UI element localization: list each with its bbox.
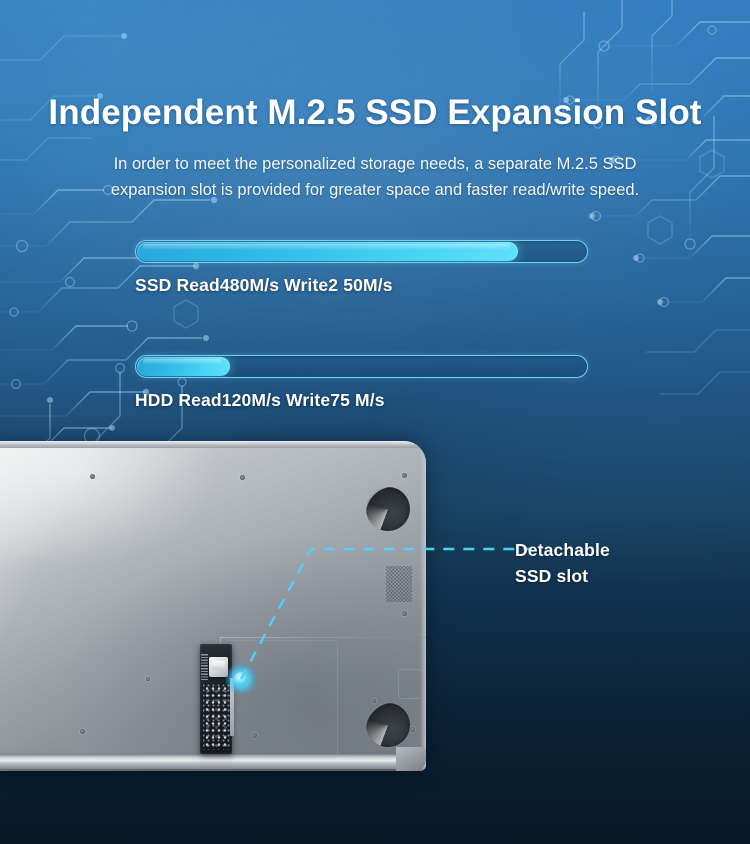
ssd-module: [200, 644, 232, 754]
ssd-connector-pins: [201, 654, 208, 680]
vent-grille: [386, 566, 412, 602]
ssd-speed-bar-group: SSD Read480M/s Write2 50M/s: [135, 240, 590, 296]
ssd-slot-glow-marker: [225, 663, 257, 695]
ssd-speed-bar-track: [135, 240, 588, 263]
header: Independent M.2.5 SSD Expansion Slot In …: [0, 0, 750, 203]
rubber-foot: [366, 487, 410, 531]
speed-comparison-chart: SSD Read480M/s Write2 50M/s HDD Read120M…: [135, 240, 590, 411]
laptop-bottom-right-cap: [396, 747, 426, 771]
screw-hole: [372, 699, 376, 703]
screw-hole: [240, 475, 245, 480]
screw-hole: [146, 677, 150, 681]
subtitle-line-1: In order to meet the personalized storag…: [114, 155, 637, 173]
page-title: Independent M.2.5 SSD Expansion Slot: [0, 93, 750, 133]
callout-label: Detachable SSD slot: [515, 537, 610, 589]
callout-line-1: Detachable: [515, 537, 610, 563]
screw-hole: [80, 729, 85, 734]
hdd-speed-bar-group: HDD Read120M/s Write75 M/s: [135, 355, 590, 411]
screw-hole: [410, 727, 415, 732]
ssd-slot-outline: [228, 640, 338, 758]
ssd-components: [203, 684, 230, 750]
subtitle-line-2: expansion slot is provided for greater s…: [111, 181, 639, 199]
ssd-speed-label: SSD Read480M/s Write2 50M/s: [135, 275, 590, 296]
hdd-speed-label: HDD Read120M/s Write75 M/s: [135, 390, 590, 411]
screw-hole: [90, 474, 95, 479]
ssd-speed-bar-fill: [137, 242, 518, 261]
screw-hole: [402, 611, 407, 616]
hdd-speed-bar-fill: [137, 357, 230, 376]
hdd-speed-bar-track: [135, 355, 588, 378]
metal-sheen-highlight: [0, 441, 284, 561]
promo-banner: Independent M.2.5 SSD Expansion Slot In …: [0, 0, 750, 844]
panel-door-notch: [398, 669, 424, 699]
laptop-top-edge: [0, 441, 426, 448]
rubber-foot: [366, 703, 410, 747]
laptop-right-edge: [420, 445, 426, 771]
page-subtitle: In order to meet the personalized storag…: [0, 151, 750, 203]
callout-line-2: SSD slot: [515, 563, 610, 589]
panel-seam: [220, 637, 426, 638]
laptop-bottom-lip: [0, 754, 408, 769]
screw-hole: [402, 473, 407, 478]
